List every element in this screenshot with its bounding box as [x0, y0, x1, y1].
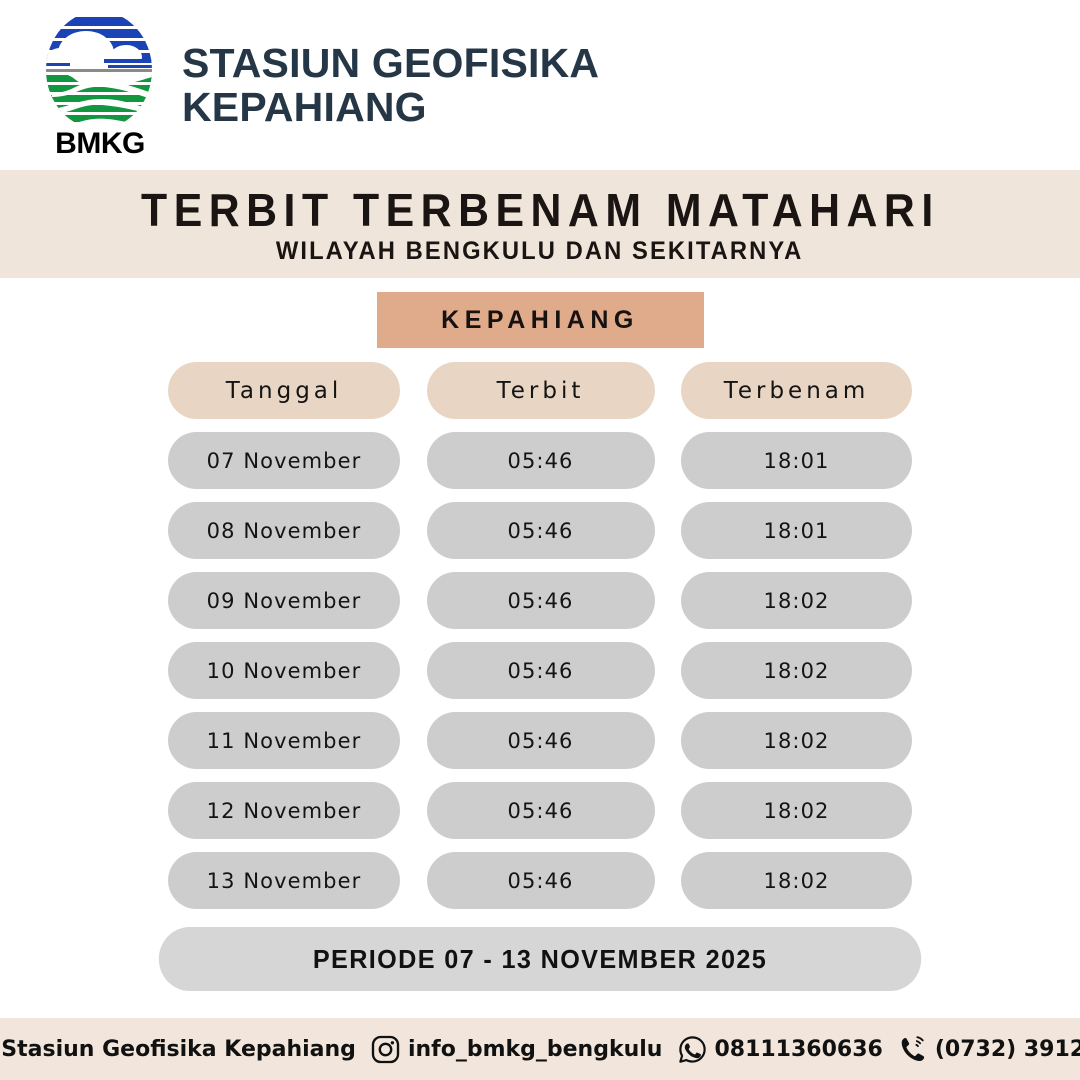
table-row: 09 November 05:46 18:02: [168, 572, 912, 629]
cell-terbenam: 18:02: [681, 782, 912, 839]
footer-facebook-label: Stasiun Geofisika Kepahiang: [1, 1037, 356, 1062]
cell-tanggal: 10 November: [168, 642, 400, 699]
column-header-terbit: Terbit: [427, 362, 655, 419]
footer-facebook[interactable]: Stasiun Geofisika Kepahiang: [0, 1034, 356, 1064]
region-tab-kepahiang[interactable]: KEPAHIANG: [377, 292, 704, 348]
cell-tanggal: 08 November: [168, 502, 400, 559]
cell-terbit: 05:46: [427, 712, 655, 769]
masthead: BMKG STASIUN GEOFISIKA KEPAHIANG: [0, 0, 1080, 170]
cell-tanggal: 13 November: [168, 852, 400, 909]
cell-terbenam: 18:02: [681, 852, 912, 909]
footer-whatsapp[interactable]: 08111360636: [677, 1034, 882, 1064]
title-banner: TERBIT TERBENAM MATAHARI WILAYAH BENGKUL…: [0, 170, 1080, 278]
cell-tanggal: 09 November: [168, 572, 400, 629]
instagram-icon: [371, 1034, 401, 1064]
region-tab-row: KEPAHIANG: [0, 292, 1080, 348]
table-row: 10 November 05:46 18:02: [168, 642, 912, 699]
column-header-tanggal: Tanggal: [168, 362, 400, 419]
cell-terbit: 05:46: [427, 782, 655, 839]
table-row: 07 November 05:46 18:01: [168, 432, 912, 489]
cell-terbit: 05:46: [427, 432, 655, 489]
cell-tanggal: 12 November: [168, 782, 400, 839]
cell-terbenam: 18:02: [681, 642, 912, 699]
table-row: 12 November 05:46 18:02: [168, 782, 912, 839]
cell-terbit: 05:46: [427, 572, 655, 629]
bmkg-wordmark: BMKG: [40, 127, 160, 161]
footer-instagram-label: info_bmkg_bengkulu: [408, 1037, 663, 1062]
cell-terbit: 05:46: [427, 852, 655, 909]
cell-tanggal: 07 November: [168, 432, 400, 489]
table-row: 11 November 05:46 18:02: [168, 712, 912, 769]
banner-subtitle: WILAYAH BENGKULU DAN SEKITARNYA: [276, 237, 804, 266]
footer-phone[interactable]: (0732) 391267: [898, 1034, 1080, 1064]
footer-phone-label: (0732) 391267: [935, 1037, 1080, 1062]
sun-times-table: Tanggal Terbit Terbenam 07 November 05:4…: [168, 362, 912, 909]
cell-tanggal: 11 November: [168, 712, 400, 769]
banner-title: TERBIT TERBENAM MATAHARI: [141, 187, 940, 233]
footer-whatsapp-label: 08111360636: [714, 1037, 882, 1062]
table-row: 08 November 05:46 18:01: [168, 502, 912, 559]
cell-terbenam: 18:01: [681, 502, 912, 559]
table-row: 13 November 05:46 18:02: [168, 852, 912, 909]
station-title: STASIUN GEOFISIKA KEPAHIANG: [182, 41, 599, 130]
bmkg-logo: BMKG: [40, 11, 160, 159]
period-bar: PERIODE 07 - 13 NOVEMBER 2025: [159, 927, 921, 991]
column-header-terbenam: Terbenam: [681, 362, 912, 419]
footer-instagram[interactable]: info_bmkg_bengkulu: [371, 1034, 663, 1064]
cell-terbit: 05:46: [427, 642, 655, 699]
cell-terbit: 05:46: [427, 502, 655, 559]
station-title-line2: KEPAHIANG: [182, 85, 599, 129]
phone-ring-icon: [898, 1034, 928, 1064]
station-title-line1: STASIUN GEOFISIKA: [182, 41, 599, 85]
footer-contact-bar: Stasiun Geofisika Kepahiang info_bmkg_be…: [0, 1018, 1080, 1080]
table-header-row: Tanggal Terbit Terbenam: [168, 362, 912, 419]
cell-terbenam: 18:01: [681, 432, 912, 489]
cell-terbenam: 18:02: [681, 712, 912, 769]
whatsapp-icon: [677, 1034, 707, 1064]
cell-terbenam: 18:02: [681, 572, 912, 629]
bmkg-logo-icon: [46, 11, 152, 129]
